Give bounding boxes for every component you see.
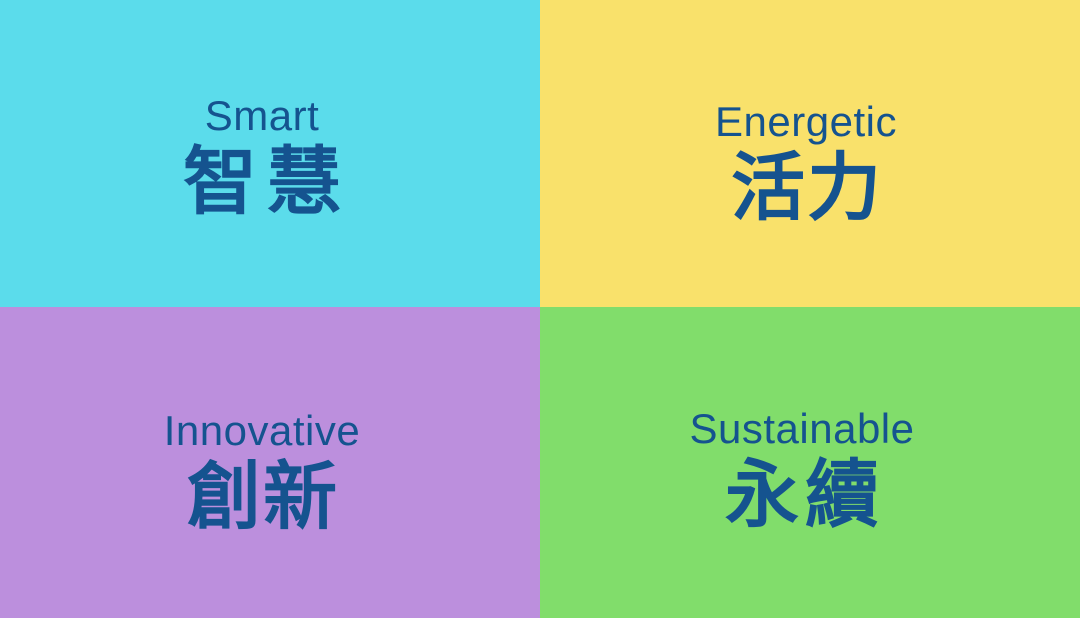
quadrant-innovative-label-zh: 創新	[185, 460, 339, 534]
quadrant-innovative-label-en: Innovative	[164, 409, 360, 453]
quadrant-smart-label-zh: 智慧	[173, 145, 351, 219]
quadrant-sustainable-label-en: Sustainable	[690, 407, 915, 451]
quadrant-smart[interactable]: Smart 智慧	[0, 0, 540, 307]
quadrant-energetic[interactable]: Energetic 活力	[540, 0, 1080, 307]
quadrant-energetic-label-en: Energetic	[715, 100, 897, 144]
quadrant-innovative[interactable]: Innovative 創新	[0, 307, 540, 618]
quadrant-innovative-content: Innovative 創新	[164, 409, 360, 533]
quadrant-energetic-label-zh: 活力	[729, 151, 883, 225]
quadrant-smart-label-en: Smart	[205, 94, 320, 138]
quadrant-energetic-content: Energetic 活力	[715, 100, 897, 224]
quadrant-sustainable-label-zh: 永續	[719, 458, 885, 532]
quadrant-smart-content: Smart 智慧	[173, 94, 351, 218]
brand-values-board: Smart 智慧 Energetic 活力 Innovative 創新 Sust…	[0, 0, 1080, 618]
quadrant-sustainable-content: Sustainable 永續	[690, 407, 915, 531]
quadrant-sustainable[interactable]: Sustainable 永續	[540, 307, 1080, 618]
